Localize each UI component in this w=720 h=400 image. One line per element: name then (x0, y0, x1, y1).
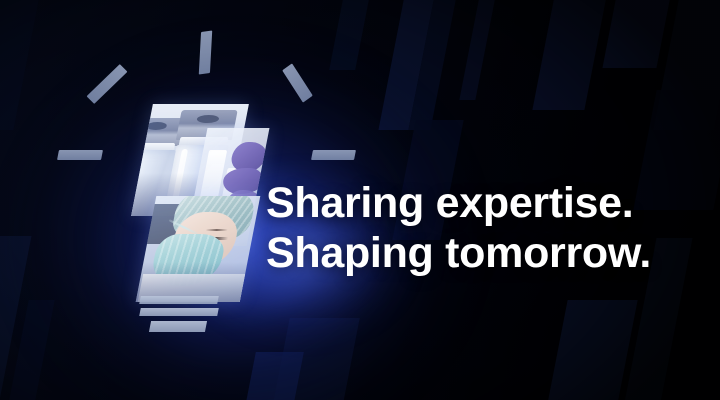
tagline-line-2: Shaping tomorrow. (266, 228, 651, 278)
tagline-line-1: Sharing expertise. (266, 178, 651, 228)
base-bar-2 (139, 308, 219, 316)
base-bar-3 (149, 321, 207, 332)
ray-upper-left (87, 64, 128, 104)
ray-upper-right (282, 63, 313, 102)
ray-left (57, 150, 103, 160)
tagline: Sharing expertise. Shaping tomorrow. (266, 178, 651, 278)
base-bar-1 (139, 296, 219, 304)
tile-surgeon-icon (136, 196, 261, 302)
ray-top-center (199, 30, 212, 74)
promotional-banner: Sharing expertise. Shaping tomorrow. (0, 0, 720, 400)
ray-right (311, 150, 356, 160)
